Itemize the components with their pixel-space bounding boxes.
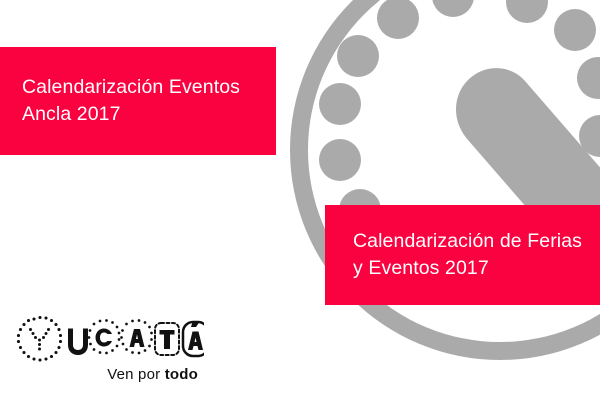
yucatan-logo[interactable]: Ven por todo [14, 316, 214, 396]
watermark-outer-ring [290, 0, 600, 360]
logo-letter-C [88, 319, 121, 354]
logo-letter-Y [17, 316, 62, 362]
logo-letter-A [120, 319, 153, 354]
banner-ferias-eventos-title: Calendarización de Ferias y Eventos 2017 [353, 228, 590, 282]
banner-eventos-ancla[interactable]: Calendarización Eventos Ancla 2017 [0, 47, 276, 155]
logo-letter-T [155, 323, 179, 355]
banner-ferias-eventos[interactable]: Calendarización de Ferias y Eventos 2017 [325, 205, 600, 305]
banner-eventos-ancla-title: Calendarización Eventos Ancla 2017 [22, 74, 258, 128]
logo-letter-U [68, 329, 88, 356]
logo-tagline: Ven por todo [14, 366, 204, 383]
yucatan-wordmark-icon [14, 316, 204, 362]
watermark-y-glyph [456, 28, 600, 378]
logo-letter-A-acute [183, 322, 204, 356]
logo-tagline-prefix: Ven por [107, 366, 164, 383]
promo-banner-page: Calendarización Eventos Ancla 2017 Calen… [0, 0, 600, 400]
logo-tagline-emphasis: todo [165, 366, 198, 383]
